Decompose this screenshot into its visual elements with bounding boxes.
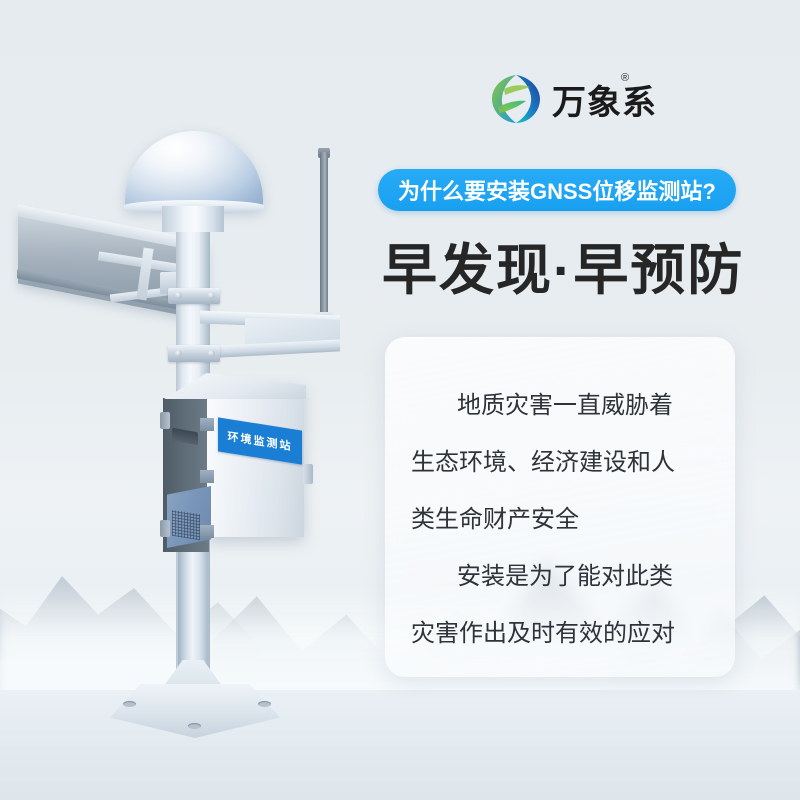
enclosure-latch (303, 464, 313, 484)
enclosure-strap (200, 525, 214, 538)
description-line: 地质灾害一直威胁着 (411, 392, 709, 420)
enclosure-label-text: 环境监测站 (228, 428, 293, 454)
gnss-monitoring-station-image: 环境监测站 (0, 0, 400, 800)
antenna-neck (162, 206, 224, 232)
description-card: 地质灾害一直威胁着 生态环境、经济建设和人 类生命财产安全 安装是为了能对此类 … (385, 337, 735, 677)
bolt-icon (208, 350, 215, 357)
anchor-hole (258, 701, 271, 707)
description-line: 生态环境、经济建设和人 (411, 449, 709, 477)
trademark-symbol: ® (621, 72, 629, 84)
description-line: 类生命财产安全 (411, 506, 709, 534)
description-line: 安装是为了能对此类 (411, 563, 709, 591)
bolt-icon (175, 292, 182, 299)
enclosure-grill (172, 510, 200, 540)
enclosure-strap (200, 418, 214, 431)
enclosure-strap (200, 470, 214, 483)
question-banner-text: 为什么要安装GNSS位移监测站? (398, 174, 716, 206)
description-line: 灾害作出及时有效的应对 (411, 620, 709, 648)
anchor-hole (188, 723, 201, 729)
gnss-antenna-dome (125, 131, 263, 209)
anchor-hole (123, 701, 136, 707)
bolt-icon (175, 350, 182, 357)
enclosure-hinge (160, 520, 170, 537)
bolt-icon (208, 292, 215, 299)
enclosure-hinge (160, 412, 170, 429)
question-banner: 为什么要安装GNSS位移监测站? (378, 169, 736, 211)
brand-name: 万象系 (552, 75, 657, 124)
brand-logo: 万象系 (490, 68, 660, 130)
poster-canvas: 环境监测站 (0, 0, 800, 800)
page-title: 早发现·早预防 (382, 225, 744, 305)
globe-swirl-logo-icon (490, 73, 542, 125)
base-plate (110, 684, 280, 738)
antenna-rod (320, 152, 328, 324)
cross-arm-lower (200, 339, 340, 358)
